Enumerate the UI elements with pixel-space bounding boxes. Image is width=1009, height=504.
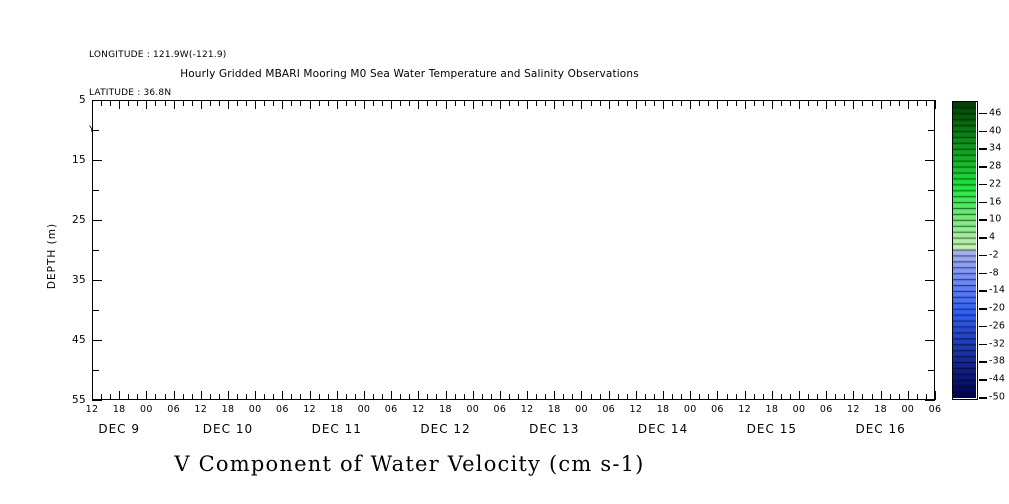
colorbar-tick [979,344,987,346]
colorbar-label: 4 [989,232,995,243]
x-hour-label: 18 [439,404,452,415]
colorbar-tick [979,219,987,221]
colorbar-tick [979,202,987,204]
x-hour-label: 12 [86,404,99,415]
x-hour-label: 18 [874,404,887,415]
colorbar-tick [979,308,987,310]
colorbar-tick [979,290,987,292]
x-hour-label: 00 [358,404,371,415]
x-hour-label: 12 [630,404,643,415]
colorbar-label: -2 [989,249,999,260]
y-axis-label: 45 [46,334,86,346]
y-tick [925,400,935,401]
colorbar-label: 28 [989,161,1002,172]
latitude-text: LATITUDE : 36.8N [89,87,227,100]
x-hour-label: 18 [548,404,561,415]
x-day-label: DEC 10 [203,422,253,436]
colorbar-tick [979,273,987,275]
x-hour-label: 12 [303,404,316,415]
x-hour-label: 00 [901,404,914,415]
x-hour-label: 06 [929,404,942,415]
colorbar-tick [979,361,987,363]
colorbar-label: 46 [989,107,1002,118]
x-hour-label: 12 [521,404,534,415]
colorbar-label: 16 [989,196,1002,207]
x-hour-label: 12 [412,404,425,415]
colorbar-label: -26 [989,320,1005,331]
colorbar-tick [979,131,987,133]
colorbar-label: 40 [989,125,1002,136]
x-hour-label: 00 [575,404,588,415]
x-hour-label: 12 [738,404,751,415]
x-day-label: DEC 13 [529,422,579,436]
colorbar-tick [979,397,987,399]
colorbar-tick [979,379,987,381]
x-hour-label: 00 [684,404,697,415]
x-hour-label: 06 [385,404,398,415]
x-hour-label: 06 [711,404,724,415]
x-hour-label: 00 [140,404,153,415]
colorbar-tick [979,237,987,239]
x-hour-label: 18 [222,404,235,415]
colorbar-tick [979,166,987,168]
plot-axes-frame [92,100,935,400]
x-hour-label: 18 [113,404,126,415]
plot-title: Hourly Gridded MBARI Mooring M0 Sea Wate… [0,68,914,80]
x-hour-label: 18 [657,404,670,415]
colorbar-tick [979,184,987,186]
x-hour-label: 06 [820,404,833,415]
variable-caption: V Component of Water Velocity (cm s-1) [0,452,914,476]
x-hour-label: 18 [765,404,778,415]
colorbar-label: -50 [989,392,1005,403]
longitude-text: LONGITUDE : 121.9W(-121.9) [89,49,227,62]
colorbar-label: -20 [989,303,1005,314]
x-day-label: DEC 9 [98,422,140,436]
colorbar-tick [979,255,987,257]
x-hour-label: 00 [249,404,262,415]
colorbar-tick [979,326,987,328]
y-axis-title: DEPTH (m) [46,196,58,316]
y-axis-label: 5 [46,94,86,106]
x-day-label: DEC 12 [420,422,470,436]
y-tick [92,400,102,401]
y-axis-label: 55 [46,394,86,406]
x-hour-label: 06 [276,404,289,415]
colorbar-label: 34 [989,143,1002,154]
y-axis-label: 15 [46,154,86,166]
colorbar-label: -14 [989,285,1005,296]
colorbar-tick [979,148,987,150]
x-hour-label: 06 [167,404,180,415]
x-hour-label: 06 [494,404,507,415]
x-hour-label: 12 [847,404,860,415]
x-hour-label: 12 [194,404,207,415]
colorbar-label: -38 [989,356,1005,367]
colorbar-label: 22 [989,178,1002,189]
x-day-label: DEC 15 [747,422,797,436]
x-tick [935,391,936,400]
x-day-label: DEC 11 [312,422,362,436]
colorbar-label: -32 [989,338,1005,349]
colorbar [952,101,978,400]
colorbar-label: -44 [989,374,1005,385]
colorbar-tick [979,113,987,115]
x-hour-label: 06 [602,404,615,415]
colorbar-label: -8 [989,267,999,278]
x-tick [935,100,936,109]
x-day-label: DEC 16 [855,422,905,436]
colorbar-canvas [953,102,976,398]
x-hour-label: 00 [793,404,806,415]
x-day-label: DEC 14 [638,422,688,436]
x-hour-label: 18 [330,404,343,415]
x-hour-label: 00 [466,404,479,415]
colorbar-label: 10 [989,214,1002,225]
